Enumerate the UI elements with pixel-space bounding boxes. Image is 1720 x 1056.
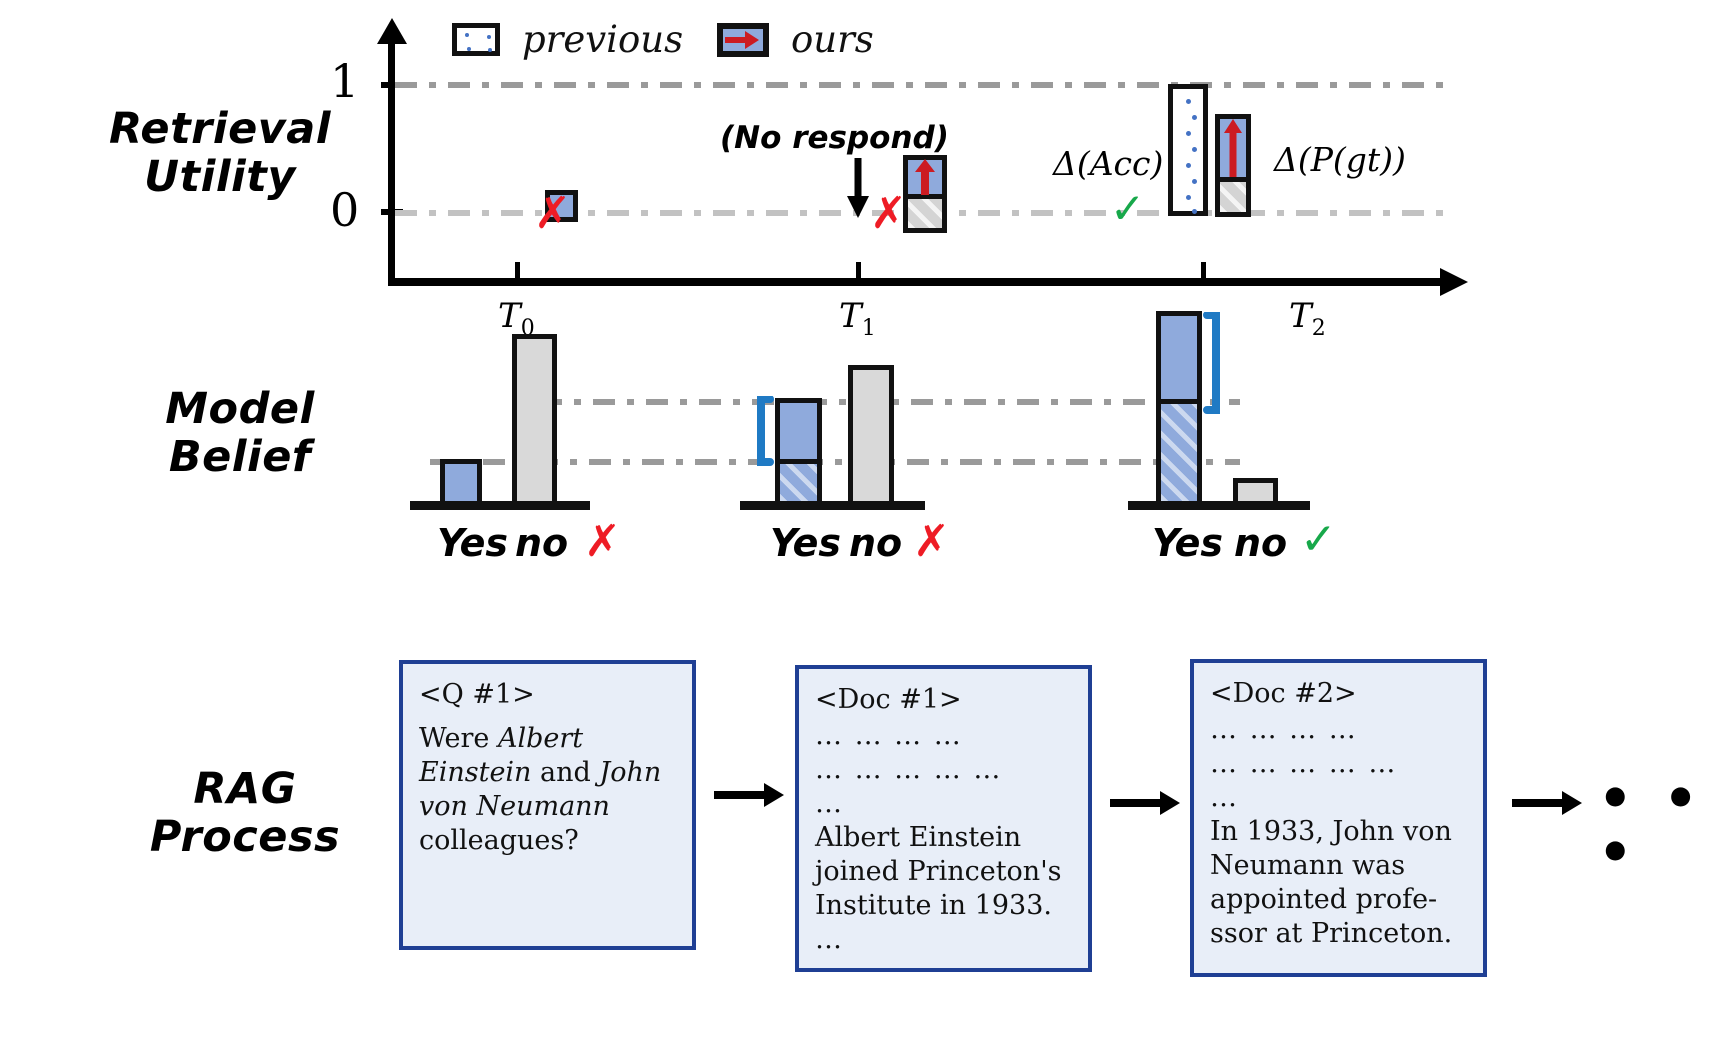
retrieval-bar-previous-t2 xyxy=(1168,84,1208,216)
rag-box-doc-1-header: <Doc #1> xyxy=(815,683,1074,717)
retrieval-bar-ours-t2-base xyxy=(1215,177,1251,217)
retrieval-bar-ours-t2 xyxy=(1215,114,1251,182)
retrieval-xlabel-t2: T2 xyxy=(1289,296,1326,341)
retrieval-xtick-t1 xyxy=(856,262,861,282)
belief-catlabel-no-t2: no xyxy=(1234,521,1287,565)
retrieval-gridline-1 xyxy=(395,82,1455,88)
row-label-model-belief-line2: Belief xyxy=(110,433,370,481)
belief-bar-no-t0 xyxy=(512,334,557,506)
previous-swatch-icon xyxy=(452,23,500,56)
row-label-rag-process-line2: Process xyxy=(120,813,370,861)
belief-bar-yes-t0 xyxy=(440,459,482,506)
rag-box-doc-2-dots-2: … … … … … xyxy=(1210,747,1469,781)
rag-q1-seg-2: and xyxy=(531,757,599,788)
rag-box-doc-1[interactable]: <Doc #1> … … … … … … … … … … Albert Eins… xyxy=(795,665,1092,972)
retrieval-xtick-t2 xyxy=(1201,262,1206,282)
red-up-arrow-icon xyxy=(1223,119,1243,177)
belief-cross-t0: ✗ xyxy=(584,520,621,564)
rag-arrow-3-icon xyxy=(1512,788,1584,818)
belief-bar-yes-t2 xyxy=(1156,311,1202,404)
belief-catlabel-no-t0: no xyxy=(515,521,568,565)
annotation-no-respond: (No respond) xyxy=(720,120,949,156)
belief-bar-no-t2 xyxy=(1233,478,1278,506)
belief-bracket-t1 xyxy=(756,396,774,466)
rag-arrow-2-icon xyxy=(1110,788,1182,818)
belief-check-t2: ✓ xyxy=(1300,518,1337,562)
belief-bracket-t2 xyxy=(1203,312,1221,414)
rag-box-doc-2-body: In 1933, John von Neumann was appointed … xyxy=(1210,815,1469,951)
red-up-arrow-icon xyxy=(914,159,936,195)
annotation-delta-pgt: Δ(P(gt)) xyxy=(1274,140,1406,179)
row-label-model-belief: Model Belief xyxy=(110,385,370,481)
retrieval-cross-t1: ✗ xyxy=(870,192,907,236)
rag-box-doc-1-dots-3: … xyxy=(815,787,1074,821)
annotation-no-respond-arrow-icon xyxy=(845,158,873,220)
retrieval-x-axis xyxy=(388,278,1448,286)
rag-q1-seg-4: colleagues? xyxy=(419,825,579,856)
rag-box-doc-1-dots-1: … … … … xyxy=(815,719,1074,753)
rag-box-query-1-header: <Q #1> xyxy=(419,678,678,712)
figure-canvas: previous ours Retrieval Utility 1 0 T0 xyxy=(0,0,1720,1056)
retrieval-cross-t0: ✗ xyxy=(534,192,571,236)
retrieval-ylabel-0: 0 xyxy=(330,183,359,237)
legend-label-previous: previous xyxy=(522,18,683,61)
retrieval-x-axis-arrowhead xyxy=(1440,266,1470,298)
row-label-retrieval-utility-line2: Utility xyxy=(70,153,370,201)
belief-catlabel-yes-t1: Yes xyxy=(770,521,841,565)
belief-bar-no-t1 xyxy=(848,365,894,506)
rag-box-query-1[interactable]: <Q #1> Were Albert Einstein and John von… xyxy=(399,660,696,950)
legend-item-ours: ours xyxy=(717,18,874,61)
rag-q1-seg-0: Were xyxy=(419,723,498,754)
rag-box-doc-1-dots-2: … … … … … xyxy=(815,753,1074,787)
belief-bar-yes-t1-prior xyxy=(775,459,822,506)
retrieval-y-axis xyxy=(388,30,395,282)
legend-item-previous: previous xyxy=(452,18,683,61)
belief-baseline-t1 xyxy=(740,501,925,510)
retrieval-xlabel-t1: T1 xyxy=(839,296,876,341)
belief-catlabel-no-t1: no xyxy=(849,521,902,565)
belief-catlabel-yes-t0: Yes xyxy=(437,521,508,565)
rag-box-query-1-body: Were Albert Einstein and John von Neuman… xyxy=(419,722,678,858)
belief-bar-yes-t1 xyxy=(775,398,822,464)
rag-arrow-1-icon xyxy=(714,780,786,810)
row-label-retrieval-utility: Retrieval Utility xyxy=(70,105,370,201)
ours-swatch-icon xyxy=(717,23,769,57)
retrieval-bar-ours-t1 xyxy=(903,155,947,199)
belief-bar-yes-t2-prior xyxy=(1156,399,1202,506)
annotation-delta-acc: Δ(Acc) xyxy=(1053,144,1163,183)
rag-continuation-dots: • • • xyxy=(1598,772,1720,880)
row-label-rag-process-line1: RAG xyxy=(120,765,370,813)
retrieval-bar-ours-t1-base xyxy=(903,194,947,233)
row-label-rag-process: RAG Process xyxy=(120,765,370,861)
row-label-retrieval-utility-line1: Retrieval xyxy=(70,105,370,153)
legend-label-ours: ours xyxy=(791,18,874,61)
belief-baseline-t0 xyxy=(410,501,590,510)
retrieval-y-axis-arrowhead xyxy=(374,18,410,44)
rag-box-doc-2[interactable]: <Doc #2> … … … … … … … … … … In 1933, Jo… xyxy=(1190,659,1487,977)
belief-catlabel-yes-t2: Yes xyxy=(1152,521,1223,565)
retrieval-check-t2: ✓ xyxy=(1110,188,1145,230)
rag-box-doc-1-body: Albert Einstein joined Princeton's Insti… xyxy=(815,821,1074,923)
retrieval-xtick-t0 xyxy=(515,262,520,282)
row-label-model-belief-line1: Model xyxy=(110,385,370,433)
rag-box-doc-2-dots-3: … xyxy=(1210,781,1469,815)
rag-box-doc-1-trailing: … xyxy=(815,923,1074,957)
rag-box-doc-2-dots-1: … … … … xyxy=(1210,713,1469,747)
rag-box-doc-2-header: <Doc #2> xyxy=(1210,677,1469,711)
belief-cross-t1: ✗ xyxy=(913,520,950,564)
retrieval-ylabel-1: 1 xyxy=(330,54,359,108)
